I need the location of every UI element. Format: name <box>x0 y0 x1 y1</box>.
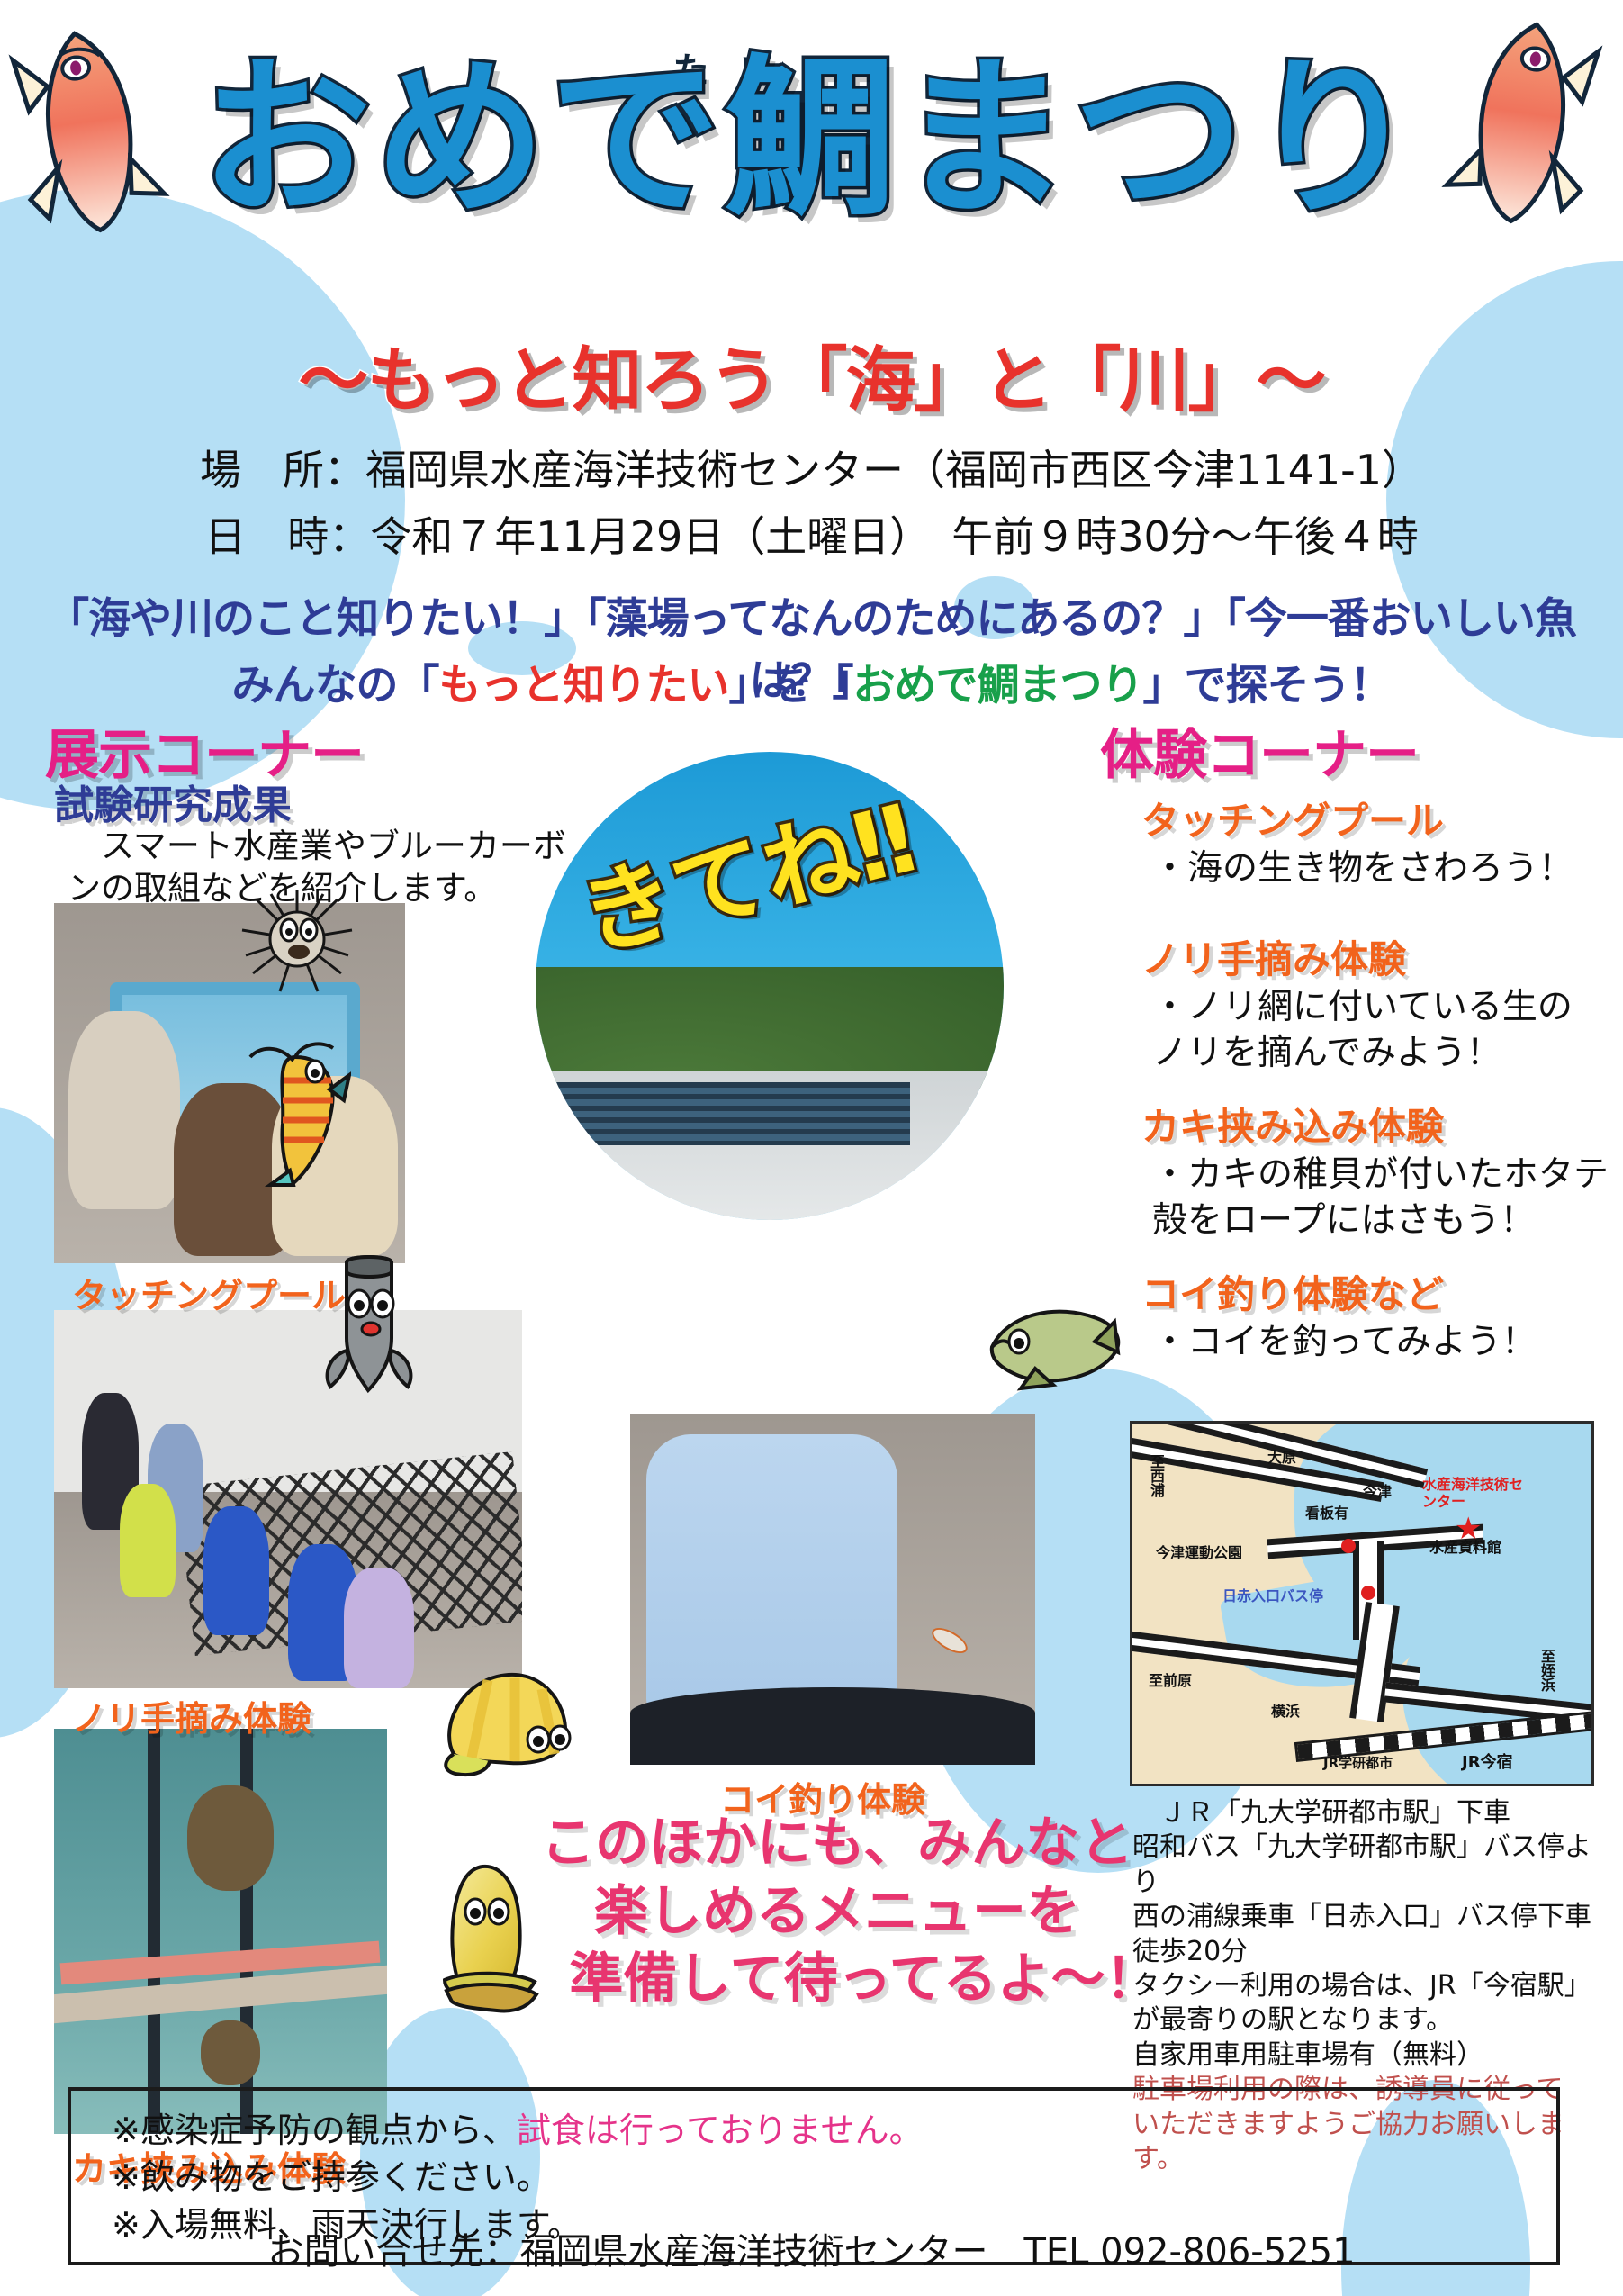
datetime-line: 日 時：令和７年11月29日（土曜日） 午前９時30分～午後４時 <box>0 504 1623 564</box>
callout-message: このほかにも、みんなと 楽しめるメニューを 準備して待ってるよ～！ <box>504 1810 1170 2014</box>
callout-line-3: 準備して待ってるよ～！ <box>504 1946 1170 2014</box>
photo-rope <box>148 1729 160 2134</box>
experience-item-body-koi-fishing: ・コイを釣ってみよう！ <box>1152 1320 1602 1366</box>
access-line-4: 徒歩20分 <box>1132 1935 1609 1969</box>
map-junction-dot <box>1341 1539 1356 1553</box>
shrimp-mascot-icon <box>243 1035 351 1189</box>
sea-urchin-mascot-icon <box>239 887 356 995</box>
map-label-jr-imajuku: JR今宿 <box>1462 1749 1513 1773</box>
map-label-bus-stop: 日赤入口バス停 <box>1222 1584 1323 1605</box>
photo-tank <box>630 1687 1035 1765</box>
contact-line: お問い合せ先：福岡県水産海洋技術センター TEL 092-806-5251 <box>0 2222 1623 2274</box>
notice-line-1: ※感染症予防の観点から、試食は行っておりません。 <box>112 2107 1516 2154</box>
photo-scallop-shell <box>187 1785 274 1891</box>
poster-root: たい おめで鯛まつり ～もっと知ろう「海」と「川」～ 場 所：福岡県水産海洋技術… <box>0 0 1623 2296</box>
notice-line-1-a: ※感染症予防の観点から、 <box>112 2111 517 2150</box>
caption-nori-picking: ノリ手摘み体験 <box>72 1691 311 1740</box>
access-map: ★ 至西浦 大原 今津 看板有 今津運動公園 日赤入口バス停 水産海洋技術センタ… <box>1130 1421 1594 1786</box>
subtitle: ～もっと知ろう「海」と「川」～ <box>0 324 1623 425</box>
notice-line-2: ※飲み物をご持参ください。 <box>112 2154 1516 2201</box>
quote-line-2: みんなの「もっと知りたい」を「おめで鯛まつり」で探そう！ <box>0 650 1623 712</box>
map-label-yokohama: 横浜 <box>1271 1699 1300 1721</box>
caption-touching-pool: タッチングプール <box>72 1268 346 1317</box>
quote-2-a: みんなの「 <box>232 661 439 710</box>
sea-bream-fish-icon <box>5 18 176 243</box>
access-line-3: 西の浦線乗車「日赤入口」バス停下車 <box>1132 1900 1609 1934</box>
photo-person <box>68 1011 181 1209</box>
access-line-7: 自家用車用駐車場有（無料） <box>1132 2038 1609 2073</box>
venue-line: 場 所：福岡県水産海洋技術センター（福岡市西区今津1141-1） <box>0 438 1623 497</box>
photo-person <box>344 1568 414 1688</box>
fish-mascot-icon <box>981 1288 1125 1396</box>
map-label-jr-gakken: JR学研都市 <box>1323 1753 1393 1772</box>
title-band: たい おめで鯛まつり <box>0 18 1623 306</box>
experience-item-body-oyster-clipping: ・カキの稚貝が付いたホタテ殻をロープにはさもう！ <box>1152 1153 1611 1243</box>
quote-2-e: 」で探そう！ <box>1143 661 1392 710</box>
photo-koi-fishing <box>630 1414 1035 1765</box>
exhibit-subheading: 試験研究成果 <box>54 773 292 830</box>
quote-2-c: 」を「 <box>729 661 853 710</box>
map-label-maebaru: 至前原 <box>1149 1668 1192 1690</box>
access-line-2: 昭和バス「九大学研都市駅」バス停より <box>1132 1830 1609 1900</box>
photo-nori-net <box>54 1310 522 1688</box>
sea-bream-fish-icon <box>1436 9 1607 234</box>
photo-person-hoodie <box>646 1434 897 1715</box>
quote-2-highlight-green: おめで鯛まつり <box>853 661 1143 710</box>
experience-corner-heading: 体験コーナー <box>1100 711 1419 790</box>
photo-building <box>536 1071 1004 1220</box>
access-line-6: が最寄りの駅となります。 <box>1132 2003 1609 2038</box>
quote-2-highlight-red: もっと知りたい <box>439 661 729 710</box>
map-label-shiryokan: 水産資料館 <box>1429 1535 1501 1557</box>
photo-scallop-shell <box>201 2020 261 2085</box>
map-label-imazu: 今津 <box>1363 1479 1392 1501</box>
map-label-ohara: 大原 <box>1267 1445 1296 1467</box>
notice-line-1-highlight: 試食は行っておりません。 <box>517 2111 924 2150</box>
experience-item-body-nori-picking: ・ノリ網に付いている生のノリを摘んでみよう！ <box>1152 985 1602 1076</box>
oyster-mascot-icon <box>432 1859 549 2021</box>
map-label-center: 水産海洋技術センター <box>1422 1476 1530 1510</box>
experience-item-head-oyster-clipping: カキ挟み込み体験 <box>1141 1097 1444 1152</box>
photo-person <box>203 1506 269 1635</box>
squid-mascot-icon <box>320 1252 419 1405</box>
callout-line-2: 楽しめるメニューを <box>504 1878 1170 1947</box>
photo-building-glass <box>545 1082 910 1145</box>
experience-item-body-touching-pool: ・海の生き物をさわろう！ <box>1152 846 1602 892</box>
map-label-imazu-park: 今津運動公園 <box>1156 1541 1242 1562</box>
access-line-5: タクシー利用の場合は、JR「今宿駅」 <box>1132 1969 1609 2003</box>
map-label-signboard: 看板有 <box>1305 1501 1348 1523</box>
experience-item-head-touching-pool: タッチングプール <box>1141 791 1444 845</box>
access-line-1: ＪＲ「九大学研都市駅」下車 <box>1132 1796 1609 1830</box>
experience-item-head-koi-fishing: コイ釣り体験など <box>1141 1264 1444 1319</box>
page-title: おめで鯛まつり <box>0 54 1623 225</box>
callout-line-1: このほかにも、みんなと <box>504 1810 1170 1878</box>
photo-person <box>120 1484 176 1597</box>
map-label-nishiura: 至西浦 <box>1145 1454 1167 1497</box>
map-bus-stop-dot <box>1361 1586 1375 1600</box>
map-label-meinohama: 至姪浜 <box>1536 1649 1557 1692</box>
experience-item-head-nori-picking: ノリ手摘み体験 <box>1141 929 1406 984</box>
photo-oyster-rope <box>54 1729 387 2134</box>
clam-shell-mascot-icon <box>432 1666 576 1783</box>
